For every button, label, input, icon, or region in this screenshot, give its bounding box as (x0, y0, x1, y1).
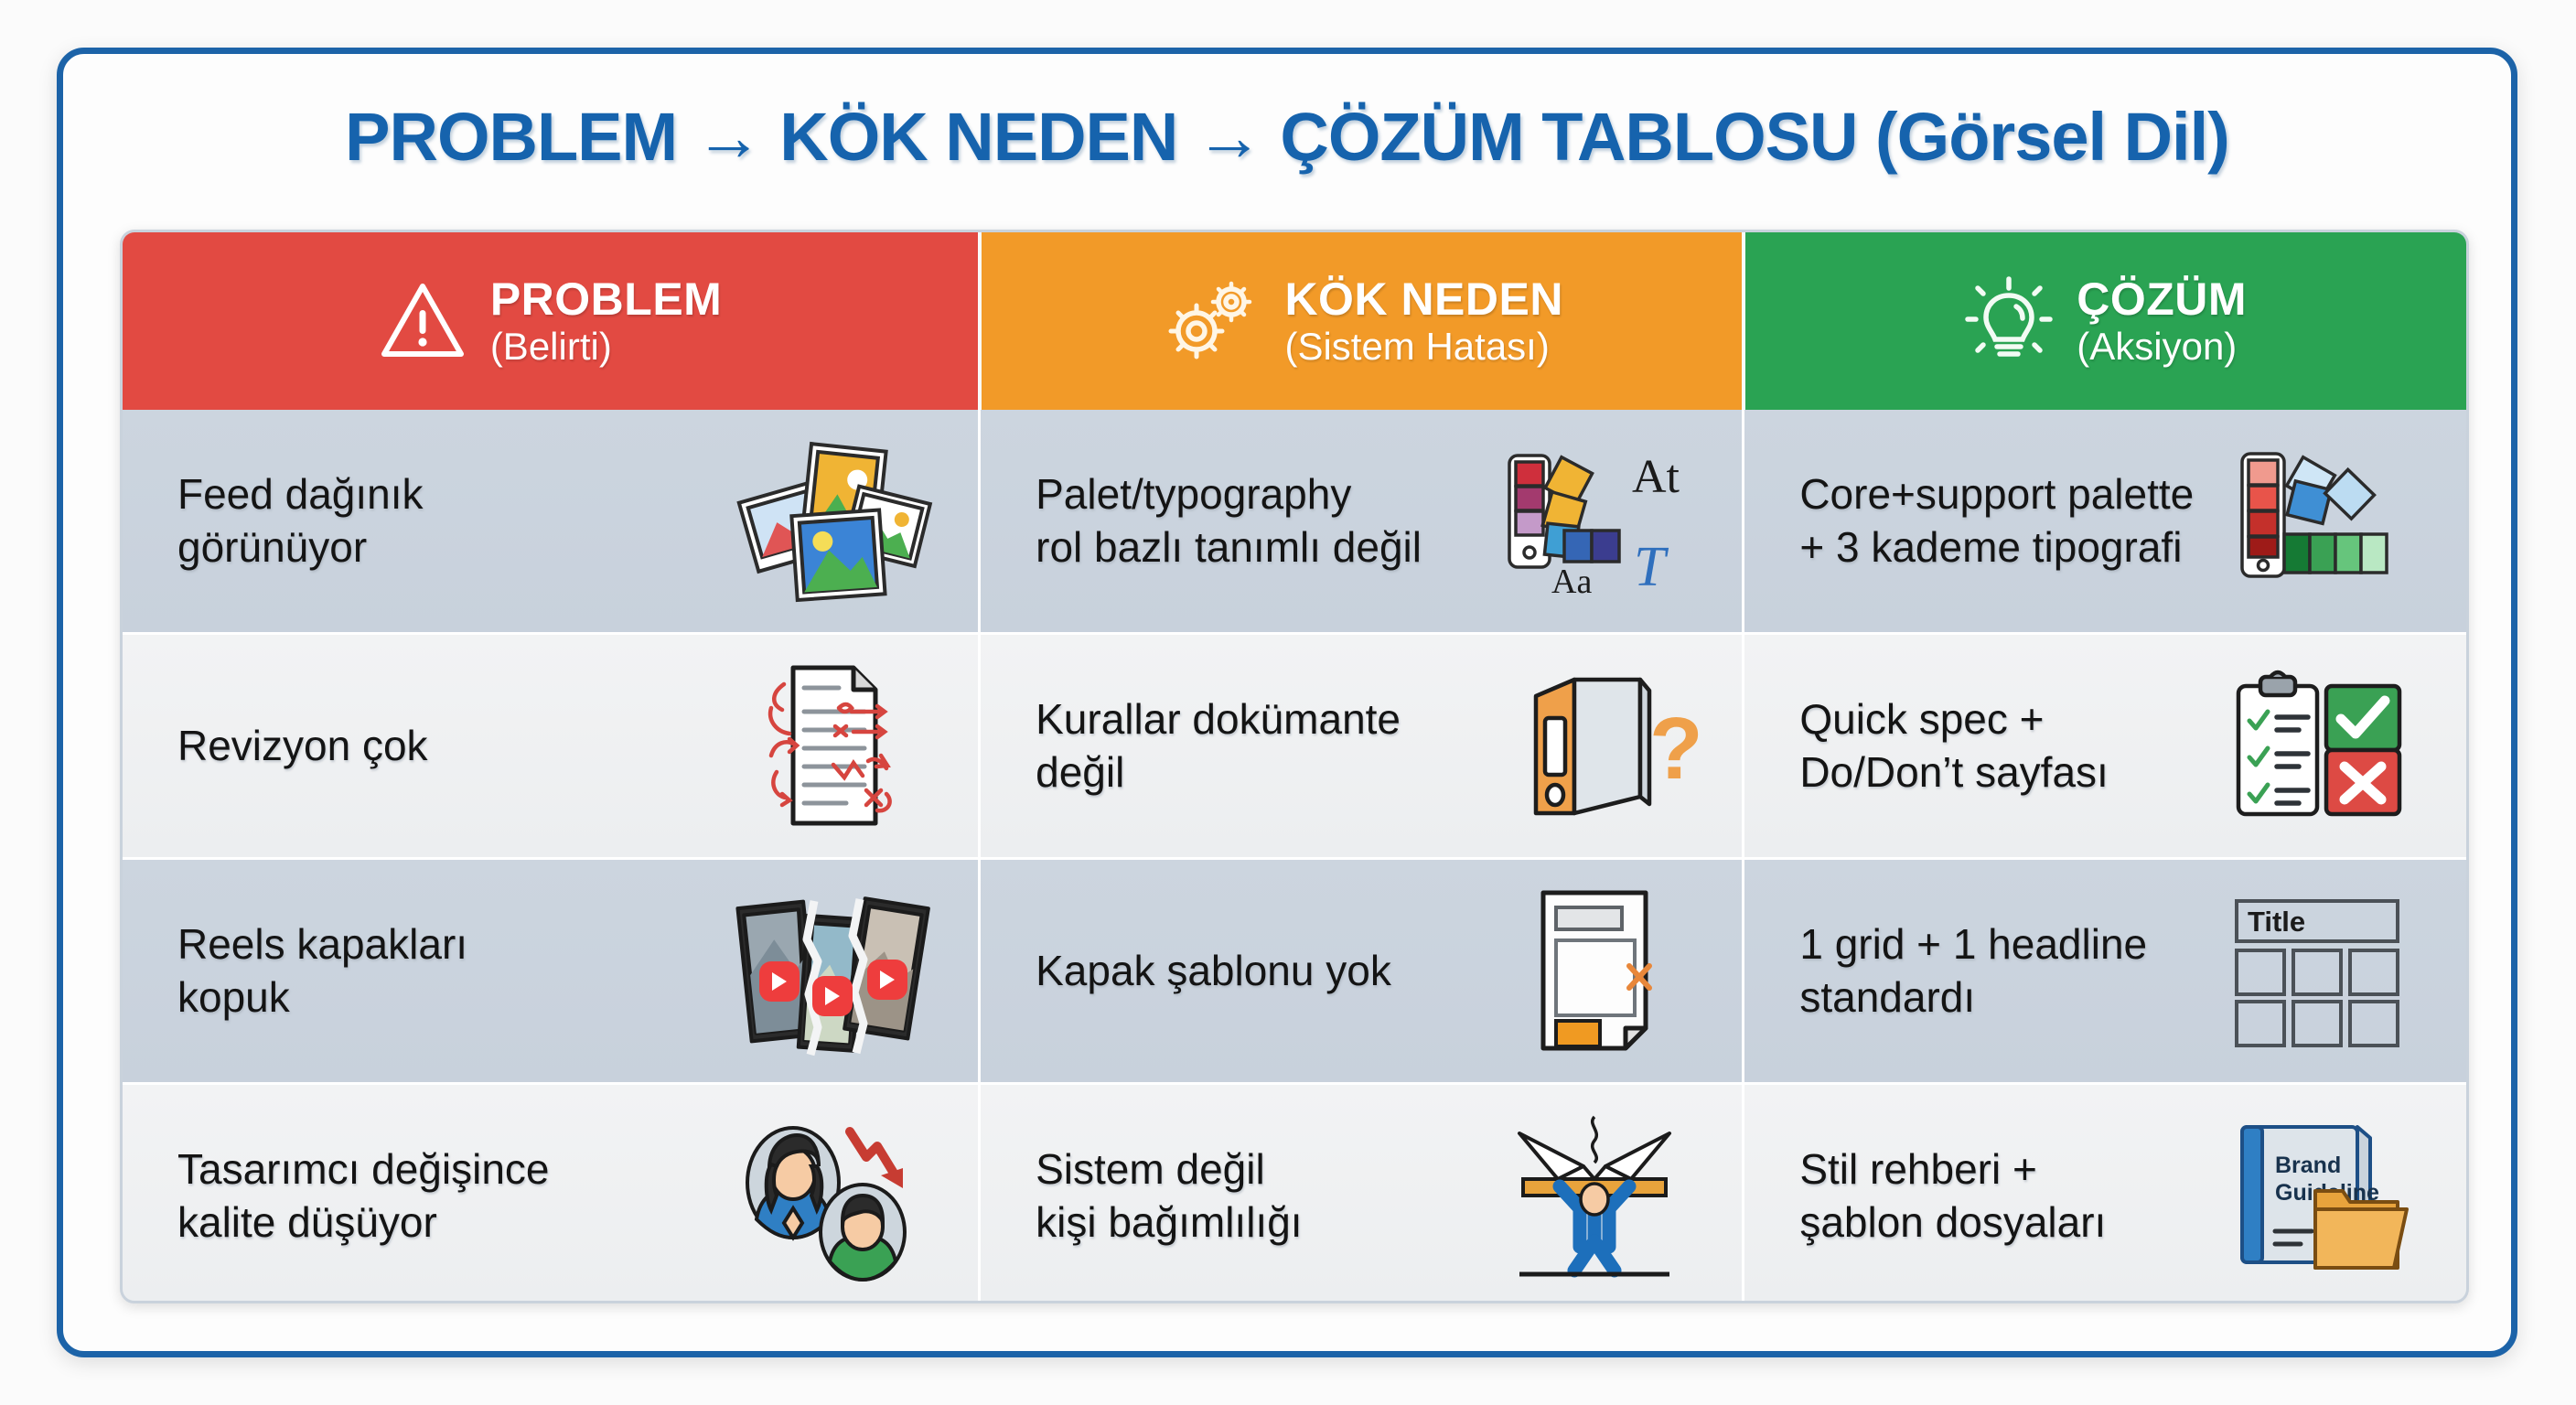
cell-text: Palet/typography rol bazlı tanımlı değil (1036, 468, 1480, 574)
checklist-do-dont-icon (2205, 655, 2433, 838)
cell-text: Feed dağınık görünüyor (177, 468, 716, 574)
cell-solution: Quick spec + Do/Don’t sayfası (1742, 635, 2466, 857)
palette-typography-icon: At Aa T (1480, 430, 1709, 613)
marked-up-document-icon (716, 655, 945, 838)
cell-text: 1 grid + 1 headline standardı (1799, 918, 2205, 1024)
cell-root-cause: Palet/typography rol bazlı tanımlı değil (978, 410, 1742, 632)
header-cell-problem: PROBLEM (Belirti) (123, 232, 978, 410)
cell-solution: Core+support palette + 3 kademe tipograf… (1742, 410, 2466, 632)
gears-icon (1160, 274, 1261, 368)
table-row: Feed dağınık görünüyor (123, 410, 2466, 632)
cell-text: Quick spec + Do/Don’t sayfası (1799, 693, 2205, 799)
missing-template-page-icon (1480, 880, 1709, 1063)
problem-cause-solution-table: PROBLEM (Belirti) (120, 230, 2469, 1303)
header-title: KÖK NEDEN (1284, 275, 1563, 323)
cell-root-cause: Kurallar dokümante değil ? (978, 635, 1742, 857)
warning-triangle-icon (379, 279, 467, 363)
page-title: PROBLEM → KÖK NEDEN → ÇÖZÜM TABLOSU (Gör… (63, 98, 2511, 176)
header-subtitle: (Belirti) (490, 327, 723, 367)
color-fan-deck-icon (2205, 430, 2433, 613)
cell-text: Sistem değil kişi bağımlılığı (1036, 1143, 1480, 1249)
person-holding-structure-icon (1480, 1105, 1709, 1288)
torn-reels-phones-icon (716, 880, 945, 1063)
binder-question-icon: ? (1480, 655, 1709, 838)
cell-text: Core+support palette + 3 kademe tipograf… (1799, 468, 2205, 574)
cell-text: Reels kapakları kopuk (177, 918, 716, 1024)
table-row: Revizyon çok (123, 632, 2466, 857)
cell-solution: Stil rehberi + şablon dosyaları Brand Gu… (1742, 1085, 2466, 1303)
cell-problem: Revizyon çok (123, 635, 978, 857)
scattered-photos-icon (716, 430, 945, 613)
brand-guideline-folder-icon: Brand Guideline (2205, 1105, 2433, 1288)
cell-text: Stil rehberi + şablon dosyaları (1799, 1143, 2205, 1249)
lightbulb-icon (1965, 275, 2053, 367)
cell-text: Kurallar dokümante değil (1036, 693, 1480, 799)
grid-title-label: Title (2248, 906, 2305, 938)
header-title: PROBLEM (490, 275, 723, 323)
table-row: Reels kapakları kopuk (123, 857, 2466, 1082)
cell-text: Tasarımcı değişince kalite düşüyor (177, 1143, 716, 1249)
question-mark-glyph: ? (1649, 700, 1703, 798)
cell-problem: Reels kapakları kopuk (123, 860, 978, 1082)
typography-label-aa: Aa (1551, 563, 1592, 601)
cell-root-cause: Kapak şablonu yok (978, 860, 1742, 1082)
cell-text: Kapak şablonu yok (1036, 945, 1480, 998)
cell-root-cause: Sistem değil kişi bağımlılığı (978, 1085, 1742, 1303)
header-cell-root-cause: KÖK NEDEN (Sistem Hatası) (978, 232, 1742, 410)
table-header-row: PROBLEM (Belirti) (123, 232, 2466, 410)
infographic-card: PROBLEM → KÖK NEDEN → ÇÖZÜM TABLOSU (Gör… (57, 48, 2517, 1357)
designer-swap-decline-icon (716, 1105, 945, 1288)
grid-headline-icon: Title (2205, 880, 2433, 1063)
typography-label-at: At (1632, 451, 1680, 503)
cell-text: Revizyon çok (177, 720, 716, 773)
header-subtitle: (Aksiyon) (2077, 327, 2247, 367)
cell-solution: 1 grid + 1 headline standardı Title (1742, 860, 2466, 1082)
header-title: ÇÖZÜM (2077, 275, 2247, 323)
cell-problem: Feed dağınık görünüyor (123, 410, 978, 632)
header-cell-solution: ÇÖZÜM (Aksiyon) (1742, 232, 2466, 410)
header-subtitle: (Sistem Hatası) (1284, 327, 1563, 367)
typography-label-t: T (1634, 536, 1669, 598)
table-row: Tasarımcı değişince kalite düşüyor (123, 1082, 2466, 1303)
brand-book-line1: Brand (2275, 1153, 2341, 1178)
cell-problem: Tasarımcı değişince kalite düşüyor (123, 1085, 978, 1303)
